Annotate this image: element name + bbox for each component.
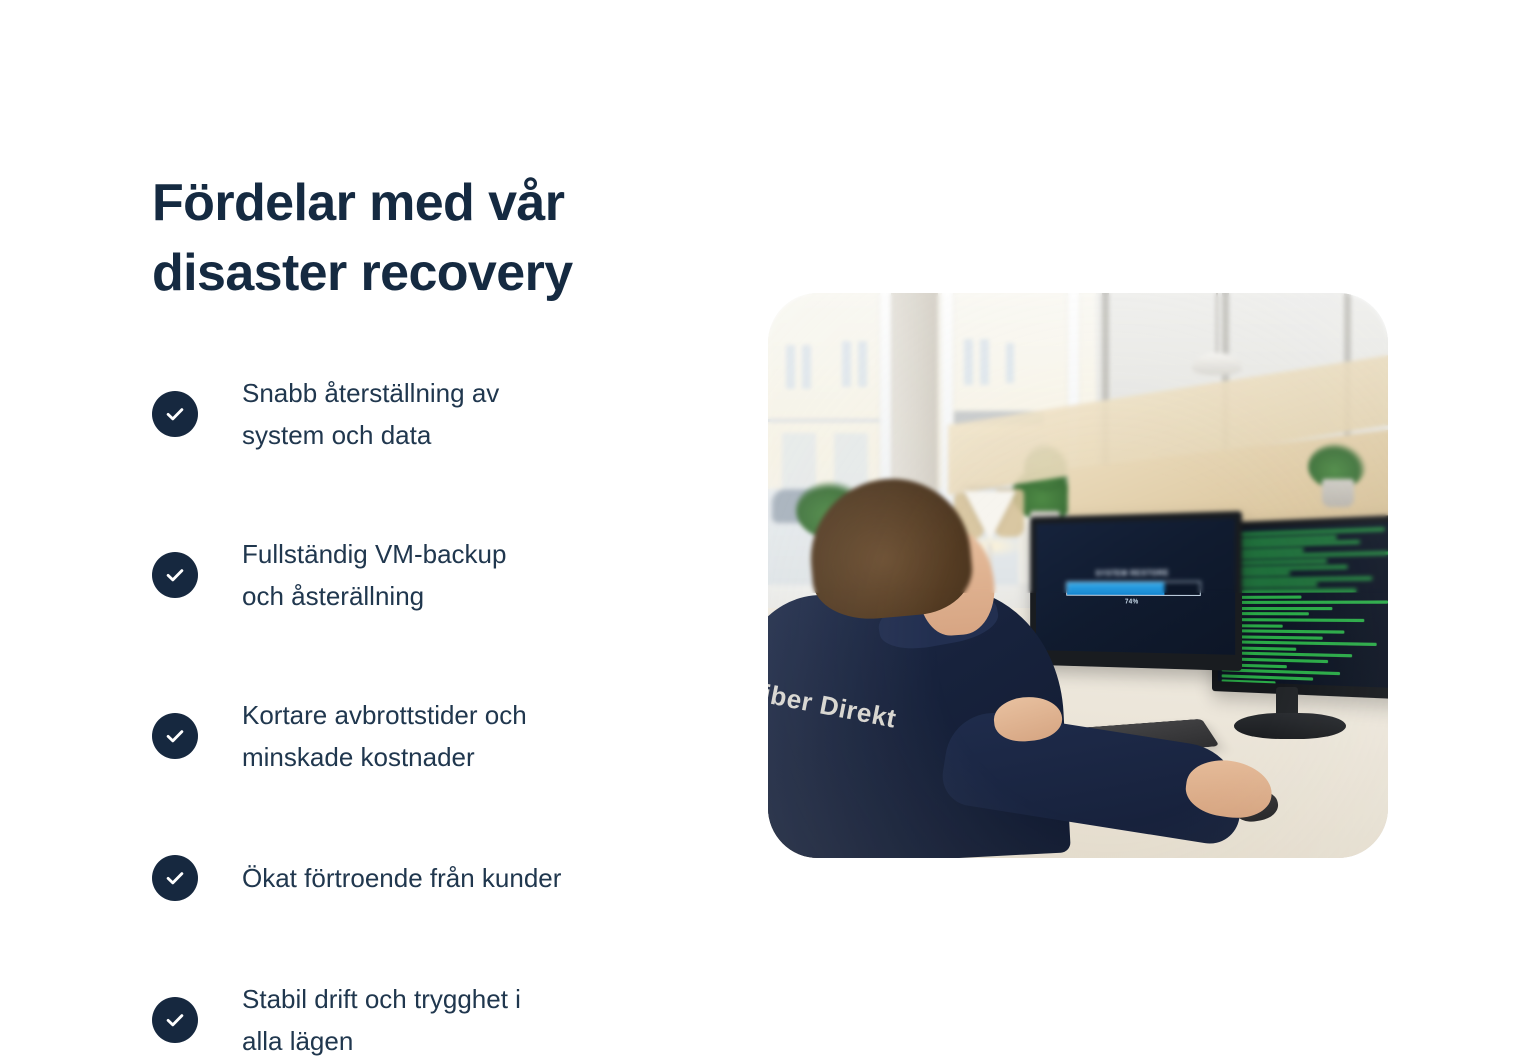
check-circle-icon <box>152 713 198 759</box>
content-column: Fördelar med vår disaster recovery Snabb… <box>152 168 712 1062</box>
list-item: Ökat förtroende från kunder <box>152 855 712 901</box>
system-restore-dialog: SYSTEM RESTORE 74% <box>1066 568 1200 605</box>
list-item: Fullständig VM-backup och åsterällning <box>152 533 712 617</box>
pendant-lamp <box>1192 353 1242 375</box>
desk-lamp-shade <box>964 491 1016 541</box>
page-title: Fördelar med vår disaster recovery <box>152 168 712 308</box>
benefit-label: Ökat förtroende från kunder <box>242 857 561 899</box>
progress-bar-track <box>1066 581 1200 596</box>
progress-percent-label: 74% <box>1066 598 1200 605</box>
check-circle-icon <box>152 391 198 437</box>
monitor-secondary-base <box>1234 713 1346 739</box>
benefit-label: Stabil drift och trygghet i alla lägen <box>242 978 521 1062</box>
check-circle-icon <box>152 997 198 1043</box>
system-restore-label: SYSTEM RESTORE <box>1066 568 1200 578</box>
system-restore-screen: SYSTEM RESTORE 74% <box>1036 518 1235 655</box>
terminal-screen <box>1218 521 1388 689</box>
check-circle-icon <box>152 552 198 598</box>
monitor-primary: SYSTEM RESTORE 74% <box>1030 511 1242 671</box>
slide-root: Fördelar med vår disaster recovery Snabb… <box>0 0 1533 1040</box>
list-item: Snabb återställning av system och data <box>152 372 712 456</box>
photo-card: SYSTEM RESTORE 74% iber Direkt <box>768 293 1388 858</box>
benefit-label: Fullständig VM-backup och åsterällning <box>242 533 506 617</box>
plant-pot <box>1322 479 1354 507</box>
check-circle-icon <box>152 855 198 901</box>
progress-bar-fill <box>1067 582 1164 595</box>
list-item: Stabil drift och trygghet i alla lägen <box>152 978 712 1062</box>
office-photo: SYSTEM RESTORE 74% iber Direkt <box>768 293 1388 858</box>
pendant-lamp-cord <box>1216 293 1218 355</box>
benefit-list: Snabb återställning av system och data F… <box>152 372 712 1062</box>
list-item: Kortare avbrottstider och minskade kostn… <box>152 694 712 778</box>
benefit-label: Kortare avbrottstider och minskade kostn… <box>242 694 527 778</box>
benefit-label: Snabb återställning av system och data <box>242 372 499 456</box>
